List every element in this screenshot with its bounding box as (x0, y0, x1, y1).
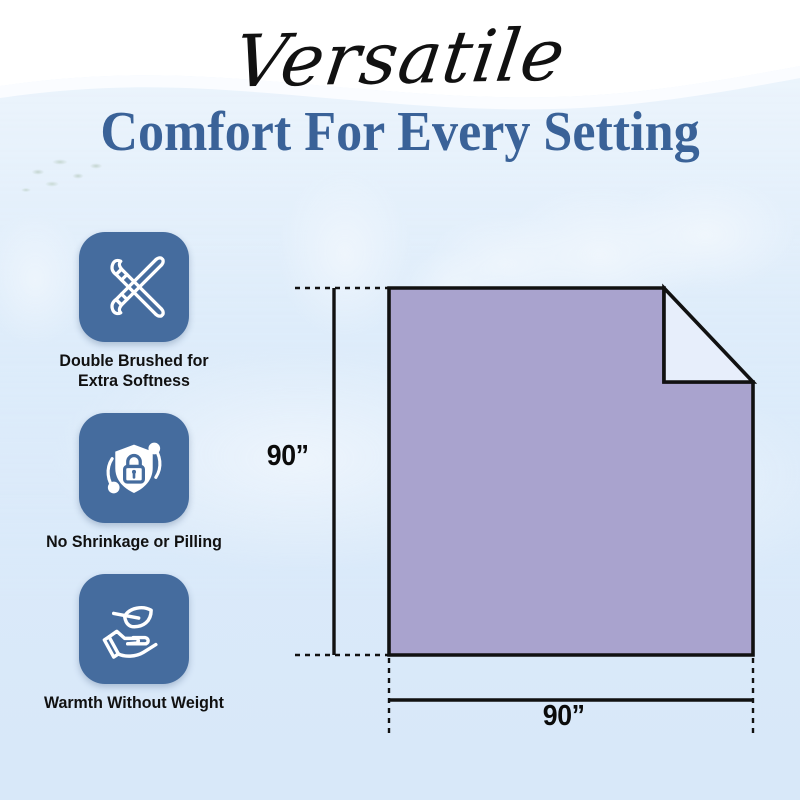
height-dimension-label: 90” (267, 440, 309, 473)
feature-item-double-brushed: Double Brushed for Extra Softness (0, 232, 268, 391)
feature-label: No Shrinkage or Pilling (8, 532, 260, 552)
vertical-extension-lines (295, 288, 393, 655)
feature-icon-tile (79, 574, 189, 684)
infographic-canvas: Versatile Comfort For Every Setting (0, 0, 800, 800)
width-dimension-label: 90” (543, 700, 585, 733)
shield-lock-orbit-icon (95, 429, 173, 507)
hand-holding-leaf-icon (95, 590, 173, 668)
feature-label: Warmth Without Weight (8, 693, 260, 713)
feature-label: Double Brushed for Extra Softness (8, 351, 260, 391)
feature-list: Double Brushed for Extra Softness (0, 232, 268, 735)
feature-item-no-shrinkage: No Shrinkage or Pilling (0, 413, 268, 552)
blanket-dimension-diagram: 90” 90” (255, 268, 800, 748)
blanket-folded-corner (664, 288, 753, 382)
dimension-drawing (255, 268, 800, 748)
page-title: Comfort For Every Setting (28, 104, 772, 160)
feature-item-warmth-without-weight: Warmth Without Weight (0, 574, 268, 713)
feature-icon-tile (79, 232, 189, 342)
feature-icon-tile (79, 413, 189, 523)
crossed-paintbrushes-icon (95, 248, 173, 326)
